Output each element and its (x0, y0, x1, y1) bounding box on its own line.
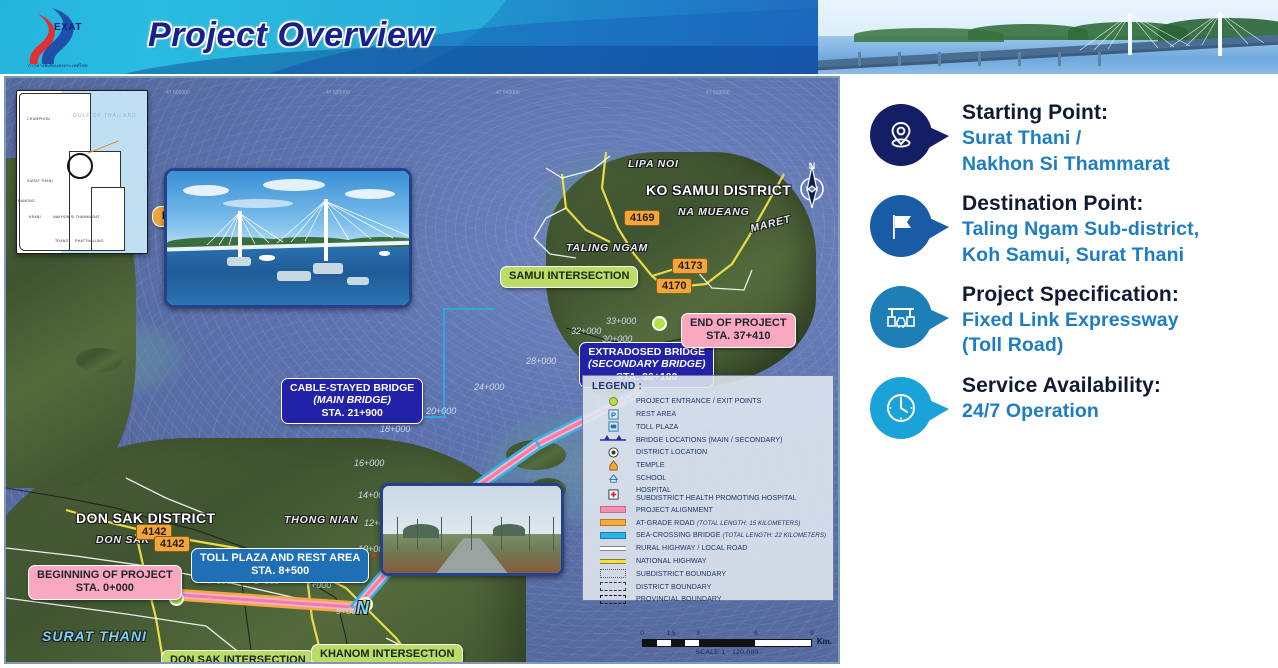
inset-place-krabi: KRABI (29, 215, 41, 219)
bridge-location-icon (590, 434, 636, 445)
provincial-boundary-icon (590, 595, 636, 604)
legend-label-1: REST AREA (636, 410, 827, 418)
inset-bridge-rendering[interactable] (164, 168, 412, 308)
info-title-service-availability: Service Availability: (962, 373, 1266, 399)
toll-plaza-icon (590, 421, 636, 432)
info-title-starting-point: Starting Point: (962, 100, 1266, 126)
callout-toll-line1: TOLL PLAZA AND REST AREA (200, 552, 360, 565)
scale-caption: SCALE 1 : 120,000 (642, 649, 812, 656)
exat-logo-text: EXAT (54, 22, 82, 33)
district-label-ko-samui: KO SAMUI DISTRICT (646, 182, 791, 198)
legend-label-13: SUBDISTRICT BOUNDARY (636, 570, 827, 578)
callout-cable-line1: CABLE-STAYED BRIDGE (290, 382, 414, 394)
location-pin-icon (870, 104, 932, 166)
legend-row-project-alignment: PROJECT ALIGNMENT (590, 504, 827, 517)
svg-text:P: P (611, 410, 616, 419)
inset-place-surat-thani: SURAT THANI (27, 179, 53, 183)
info-title-destination-point: Destination Point: (962, 191, 1266, 217)
legend-label-14: DISTRICT BOUNDARY (636, 583, 827, 591)
exat-logo-thai-text: การทางพิเศษแห่งประเทศไทย (12, 62, 104, 69)
yellow-line-icon (590, 559, 636, 564)
scale-tick-0: 0 (640, 630, 644, 637)
callout-samui-intersection[interactable]: SAMUI INTERSECTION (500, 266, 638, 288)
info-item-destination-point: Destination Point: Taling Ngam Sub-distr… (866, 191, 1266, 268)
route-shield-4170[interactable]: 4170 (656, 278, 692, 294)
inset-highlight-circle (67, 153, 93, 179)
callout-khanom-intersection[interactable]: KHANOM INTERSECTION (311, 644, 463, 664)
inset-place-nakhon: NAKHON SI THAMMARAT (53, 215, 100, 219)
legend-row-toll-plaza: TOLL PLAZA (590, 421, 827, 434)
district-boundary-icon (590, 582, 636, 591)
scale-tick-2: 3 (696, 630, 700, 637)
legend-note-7: SUBDISTRICT HEALTH PROMOTING HOSPITAL (636, 494, 797, 502)
callout-end-line1: END OF PROJECT (690, 317, 787, 330)
callout-toll-line2: STA. 8+500 (200, 565, 360, 578)
cable-bridge-leader-vertical (443, 310, 445, 418)
legend-label-5: TEMPLE (636, 461, 827, 469)
callout-samui-line1: SAMUI INTERSECTION (509, 270, 629, 283)
legend-label-12: NATIONAL HIGHWAY (636, 557, 827, 565)
info-item-service-availability: Service Availability: 24/7 Operation (866, 373, 1266, 445)
sub-label-thong-nian: THONG NIAN (284, 514, 359, 526)
page-header: EXAT การทางพิเศษแห่งประเทศไทย Project Ov… (0, 0, 1278, 74)
subdistrict-boundary-icon (590, 569, 636, 578)
callout-begin-line2: STA. 0+000 (37, 582, 173, 595)
route-shield-4142-b[interactable]: 4142 (154, 536, 190, 552)
orange-line-icon (590, 519, 636, 526)
map-legend: LEGEND : PROJECT ENTRANCE / EXIT POINTS … (582, 375, 834, 601)
legend-row-subdistrict-boundary: SUBDISTRICT BOUNDARY (590, 568, 827, 581)
legend-row-district-boundary: DISTRICT BOUNDARY (590, 580, 827, 593)
callout-cable-line2: (MAIN BRIDGE) (290, 394, 414, 406)
cable-bridge-leader-horizontal (443, 308, 495, 310)
legend-row-entrance-exit: PROJECT ENTRANCE / EXIT POINTS (590, 395, 827, 408)
blue-line-icon (590, 532, 636, 539)
scale-tick-4: 9 (810, 630, 814, 637)
legend-label-8: PROJECT ALIGNMENT (636, 506, 827, 514)
legend-row-sea-crossing-bridge: SEA-CROSSING BRIDGE (TOTAL LENGTH: 22 KI… (590, 529, 827, 542)
callout-cable-stayed-bridge[interactable]: CABLE-STAYED BRIDGE (MAIN BRIDGE) STA. 2… (281, 378, 423, 424)
legend-row-rural-highway: RURAL HIGHWAY / LOCAL ROAD (590, 542, 827, 555)
inset-gulf-label: GULF OF THAILAND (73, 113, 137, 119)
callout-end-of-project[interactable]: END OF PROJECT STA. 37+410 (681, 313, 796, 348)
legend-label-6: SCHOOL (636, 474, 827, 482)
callout-don-sak-intersection[interactable]: DON SAK INTERSECTION (161, 650, 315, 664)
project-map[interactable]: UTM WGS 84 47 500000 47 520000 47 540000… (4, 76, 840, 664)
map-north-letter: N (356, 598, 370, 619)
map-scale-bar: 0 1.5 3 6 9 Km. SCALE 1 : 120,000 (642, 630, 812, 656)
callout-begin-line1: BEGINNING OF PROJECT (37, 569, 173, 582)
scale-tick-1: 1.5 (666, 630, 675, 637)
legend-label-9: AT-GRADE ROAD (636, 519, 695, 527)
inset-location-map[interactable]: GULF OF THAILAND CHUMPHON SURAT THANI RA… (16, 90, 148, 254)
route-shield-4169[interactable]: 4169 (624, 210, 660, 226)
clock-icon (870, 377, 932, 439)
legend-label-0: PROJECT ENTRANCE / EXIT POINTS (636, 397, 827, 405)
header-cables-icon (818, 0, 1278, 74)
legend-label-4: DISTRICT LOCATION (636, 448, 827, 456)
scale-tick-3: 6 (754, 630, 758, 637)
bridge-cables-icon (167, 171, 412, 308)
legend-row-at-grade-road: AT-GRADE ROAD (TOTAL LENGTH: 15 KILOMETE… (590, 516, 827, 529)
info-panel: Starting Point: Surat Thani / Nakhon Si … (866, 100, 1266, 459)
toll-gate-icon (870, 286, 932, 348)
legend-note-9: (TOTAL LENGTH: 15 KILOMETERS) (697, 520, 801, 527)
legend-row-provincial-boundary: PROVINCIAL BOUNDARY (590, 593, 827, 606)
hospital-icon (590, 489, 636, 500)
legend-row-bridge-locations: BRIDGE LOCATIONS (MAIN / SECONDARY) (590, 433, 827, 446)
exat-logo: EXAT การทางพิเศษแห่งประเทศไทย (8, 6, 106, 68)
province-label-surat-thani: SURAT THANI (42, 628, 147, 644)
flag-icon (870, 195, 932, 257)
legend-row-hospital: HOSPITAL SUBDISTRICT HEALTH PROMOTING HO… (590, 485, 827, 504)
sub-label-lipa-noi: LIPA NOI (628, 158, 679, 170)
info-item-project-specification: Project Specification: Fixed Link Expres… (866, 282, 1266, 359)
legend-label-15: PROVINCIAL BOUNDARY (636, 595, 827, 603)
green-dot-icon (590, 397, 636, 406)
legend-row-school: SCHOOL (590, 472, 827, 485)
project-overview-slide: EXAT การทางพิเศษแห่งประเทศไทย Project Ov… (0, 0, 1278, 668)
temple-icon (590, 460, 636, 471)
callout-donsak-line1: DON SAK INTERSECTION (170, 654, 306, 664)
legend-row-temple: TEMPLE (590, 459, 827, 472)
header-bridge-photo (818, 0, 1278, 74)
inset-place-ranong: RANONG (18, 199, 35, 203)
scale-unit-label: Km. (817, 637, 832, 646)
inset-place-chumphon: CHUMPHON (27, 117, 50, 121)
callout-cable-line3: STA. 21+900 (290, 407, 414, 419)
legend-title: LEGEND : (592, 381, 827, 392)
legend-row-national-highway: NATIONAL HIGHWAY (590, 555, 827, 568)
legend-label-7: HOSPITAL (636, 486, 671, 494)
inset-place-phatthalung: PHATTHALUNG (75, 239, 104, 243)
callout-khanom-line1: KHANOM INTERSECTION (320, 648, 454, 661)
info-item-starting-point: Starting Point: Surat Thani / Nakhon Si … (866, 100, 1266, 177)
legend-row-rest-area: P REST AREA (590, 408, 827, 421)
legend-label-10: SEA-CROSSING BRIDGE (636, 531, 721, 539)
callout-end-line2: STA. 37+410 (690, 330, 787, 343)
north-arrow-icon: N (792, 162, 832, 208)
inset-place-trang: TRANG (55, 239, 69, 243)
legend-label-11: RURAL HIGHWAY / LOCAL ROAD (636, 544, 827, 552)
svg-text:N: N (809, 162, 816, 171)
page-title: Project Overview (148, 16, 434, 55)
info-value-spec-line2: (Toll Road) (962, 333, 1266, 358)
callout-toll-plaza-rest-area[interactable]: TOLL PLAZA AND REST AREA STA. 8+500 (191, 548, 369, 583)
pink-line-icon (590, 506, 636, 513)
district-location-icon (590, 447, 636, 458)
scale-bar-graphic (642, 639, 812, 647)
legend-label-3: BRIDGE LOCATIONS (MAIN / SECONDARY) (636, 436, 827, 444)
info-value-destination-line1: Taling Ngam Sub-district, (962, 217, 1266, 242)
school-icon (590, 473, 636, 484)
info-value-service-line1: 24/7 Operation (962, 399, 1266, 424)
callout-extra-line2: (SECONDARY BRIDGE) (588, 358, 705, 370)
scale-tick-labels: 0 1.5 3 6 9 (642, 630, 812, 639)
legend-label-2: TOLL PLAZA (636, 423, 827, 431)
route-shield-4173[interactable]: 4173 (672, 258, 708, 274)
legend-row-district-location: DISTRICT LOCATION (590, 446, 827, 459)
info-value-destination-line2: Koh Samui, Surat Thani (962, 243, 1266, 268)
info-value-spec-line1: Fixed Link Expressway (962, 308, 1266, 333)
info-value-starting-point-line1: Surat Thani / (962, 126, 1266, 151)
rest-area-icon: P (590, 409, 636, 420)
legend-note-10: (TOTAL LENGTH: 22 KILOMETERS) (723, 532, 827, 539)
info-value-starting-point-line2: Nakhon Si Thammarat (962, 152, 1266, 177)
sub-label-taling-ngam: TALING NGAM (566, 242, 648, 254)
info-title-project-specification: Project Specification: (962, 282, 1266, 308)
callout-beginning-of-project[interactable]: BEGINNING OF PROJECT STA. 0+000 (28, 565, 182, 600)
node-end-of-project[interactable] (652, 316, 667, 331)
sub-label-na-mueang: NA MUEANG (678, 206, 750, 218)
white-line-icon (590, 546, 636, 551)
inset-road-rendering[interactable] (380, 483, 564, 576)
